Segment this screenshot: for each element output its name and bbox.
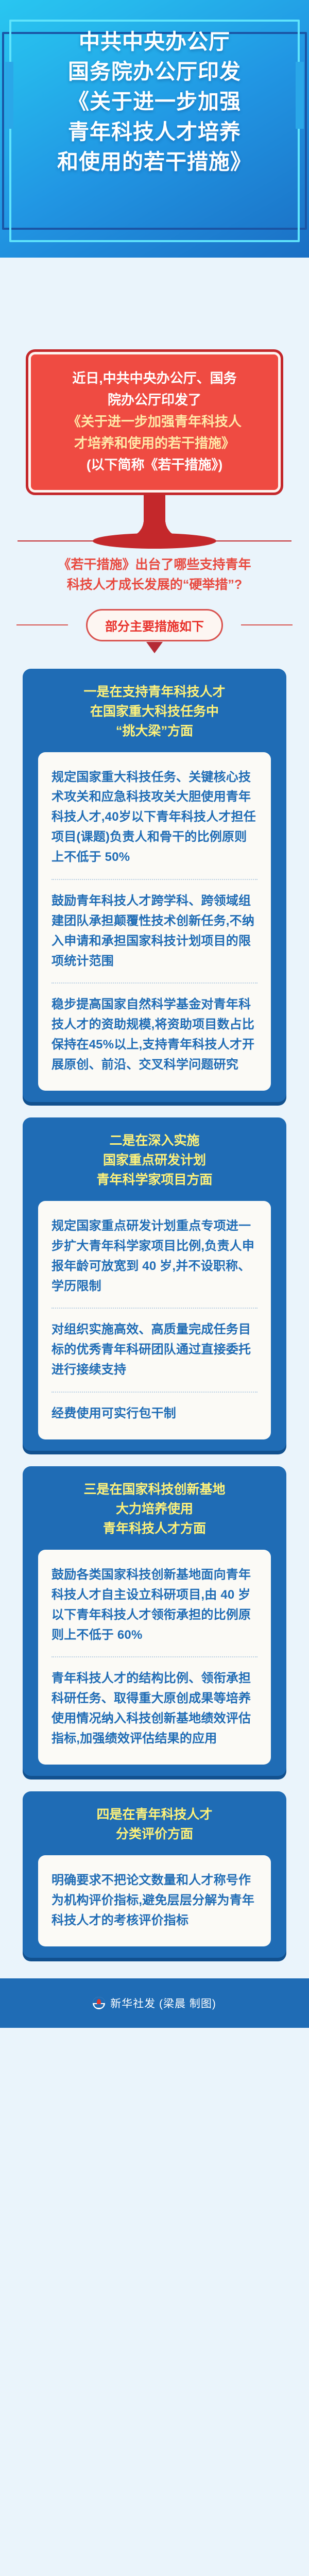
infographic-page: 中共中央办公厅 国务院办公厅印发 《关于进一步加强 青年科技人才培养 和使用的若… (0, 0, 309, 2028)
section-1-paragraph-2: 鼓励青年科技人才跨学科、跨领域组建团队承担颠覆性技术创新任务,不纳入申请和承担国… (51, 891, 257, 972)
title-line-5: 和使用的若干措施》 (18, 147, 291, 177)
section-2-paragraph-3: 经费使用可实行包干制 (51, 1404, 257, 1424)
section-2: 二是在深入实施 国家重点研发计划 青年科学家项目方面 规定国家重点研发计划重点专… (23, 1117, 286, 1451)
section-2-heading: 二是在深入实施 国家重点研发计划 青年科学家项目方面 (23, 1131, 286, 1201)
notice-card: 近日,中共中央办公厅、国务 院办公厅印发了 《关于进一步加强青年科技人 才培养和… (26, 349, 283, 495)
page-title: 中共中央办公厅 国务院办公厅印发 《关于进一步加强 青年科技人才培养 和使用的若… (0, 0, 309, 177)
section-2-heading-line-2: 国家重点研发计划 (37, 1150, 272, 1170)
title-line-3: 《关于进一步加强 (18, 87, 291, 116)
section-4: 四是在青年科技人才 分类评价方面 明确要求不把论文数量和人才称号作为机构评价指标… (23, 1791, 286, 1958)
section-1-card: 规定国家重大科技任务、关键核心技术攻关和应急科技攻关大胆使用青年科技人才,40岁… (38, 752, 271, 1091)
section-2-divider-1 (51, 1308, 257, 1309)
pedestal-rule (18, 540, 291, 541)
section-3: 三是在国家科技创新基地 大力培养使用 青年科技人才方面 鼓励各类国家科技创新基地… (23, 1466, 286, 1776)
section-2-card: 规定国家重点研发计划重点专项进一步扩大青年科学家项目比例,负责人申报年龄可放宽到… (38, 1201, 271, 1439)
section-4-heading-line-1: 四是在青年科技人才 (37, 1805, 272, 1824)
notice-doc-title-line-2: 才培养和使用的若干措施》 (46, 432, 263, 454)
question-text: 《若干措施》出台了哪些支持青年 科技人才成长发展的“硬举措”? (0, 553, 309, 596)
section-3-heading-line-1: 三是在国家科技创新基地 (37, 1480, 272, 1499)
section-3-heading-line-2: 大力培养使用 (37, 1499, 272, 1519)
pedestal-graphic (0, 495, 309, 553)
section-1-heading-line-1: 一是在支持青年科技人才 (37, 682, 272, 702)
notice-line-1: 近日,中共中央办公厅、国务 (46, 367, 263, 389)
section-1-divider-2 (51, 982, 257, 984)
section-1-heading-line-2: 在国家重大科技任务中 (37, 702, 272, 721)
section-4-paragraph-1: 明确要求不把论文数量和人才称号作为机构评价指标,避免层层分解为青年科技人才的考核… (51, 1871, 257, 1931)
notice-doc-title-line-1: 《关于进一步加强青年科技人 (46, 411, 263, 432)
measures-pill-label: 部分主要措施如下 (86, 609, 223, 641)
section-3-heading-line-3: 青年科技人才方面 (37, 1519, 272, 1538)
title-line-1: 中共中央办公厅 (18, 27, 291, 57)
section-1-paragraph-3: 稳步提高国家自然科学基金对青年科技人才的资助规模,将资助项目数占比保持在45%以… (51, 995, 257, 1075)
section-4-card: 明确要求不把论文数量和人才称号作为机构评价指标,避免层层分解为青年科技人才的考核… (38, 1855, 271, 1946)
pill-rule-right (241, 624, 293, 625)
section-2-divider-2 (51, 1392, 257, 1393)
notice-line-3: (以下简称《若干措施》) (46, 454, 263, 476)
content-body: 近日,中共中央办公厅、国务 院办公厅印发了 《关于进一步加强青年科技人 才培养和… (0, 258, 309, 2028)
section-3-divider-1 (51, 1656, 257, 1657)
section-1-paragraph-1: 规定国家重大科技任务、关键核心技术攻关和应急科技攻关大胆使用青年科技人才,40岁… (51, 768, 257, 868)
xinhua-logo-icon (93, 1997, 105, 2009)
measures-pill-row: 部分主要措施如下 (0, 609, 309, 641)
section-2-paragraph-1: 规定国家重点研发计划重点专项进一步扩大青年科学家项目比例,负责人申报年龄可放宽到… (51, 1216, 257, 1297)
title-line-2: 国务院办公厅印发 (18, 57, 291, 87)
section-1-heading-line-3: “挑大梁”方面 (37, 721, 272, 741)
arrow-down-icon (146, 642, 163, 653)
footer-credit-text: 新华社发 (梁晨 制图) (110, 1995, 216, 2011)
section-3-heading: 三是在国家科技创新基地 大力培养使用 青年科技人才方面 (23, 1480, 286, 1550)
section-1: 一是在支持青年科技人才 在国家重大科技任务中 “挑大梁”方面 规定国家重大科技任… (23, 669, 286, 1102)
section-3-paragraph-1: 鼓励各类国家科技创新基地面向青年科技人才自主设立科研项目,由 40 岁以下青年科… (51, 1565, 257, 1646)
pedestal-neck (144, 495, 165, 537)
notice-line-2: 院办公厅印发了 (46, 389, 263, 411)
title-line-4: 青年科技人才培养 (18, 117, 291, 147)
footer-credit-bar: 新华社发 (梁晨 制图) (0, 1978, 309, 2028)
section-1-heading: 一是在支持青年科技人才 在国家重大科技任务中 “挑大梁”方面 (23, 682, 286, 752)
section-1-divider-1 (51, 879, 257, 880)
section-2-heading-line-1: 二是在深入实施 (37, 1131, 272, 1150)
section-4-heading-line-2: 分类评价方面 (37, 1824, 272, 1844)
section-4-heading: 四是在青年科技人才 分类评价方面 (23, 1805, 286, 1855)
pill-rule-left (16, 624, 68, 625)
section-2-paragraph-2: 对组织实施高效、高质量完成任务目标的优秀青年科研团队通过直接委托进行接续支持 (51, 1320, 257, 1380)
header-banner: 中共中央办公厅 国务院办公厅印发 《关于进一步加强 青年科技人才培养 和使用的若… (0, 0, 309, 258)
question-line-2: 科技人才成长发展的“硬举措”? (15, 575, 294, 596)
section-2-heading-line-3: 青年科学家项目方面 (37, 1170, 272, 1190)
question-line-1: 《若干措施》出台了哪些支持青年 (15, 555, 294, 575)
section-3-card: 鼓励各类国家科技创新基地面向青年科技人才自主设立科研项目,由 40 岁以下青年科… (38, 1550, 271, 1765)
section-3-paragraph-2: 青年科技人才的结构比例、领衔承担科研任务、取得重大原创成果等培养使用情况纳入科技… (51, 1669, 257, 1749)
